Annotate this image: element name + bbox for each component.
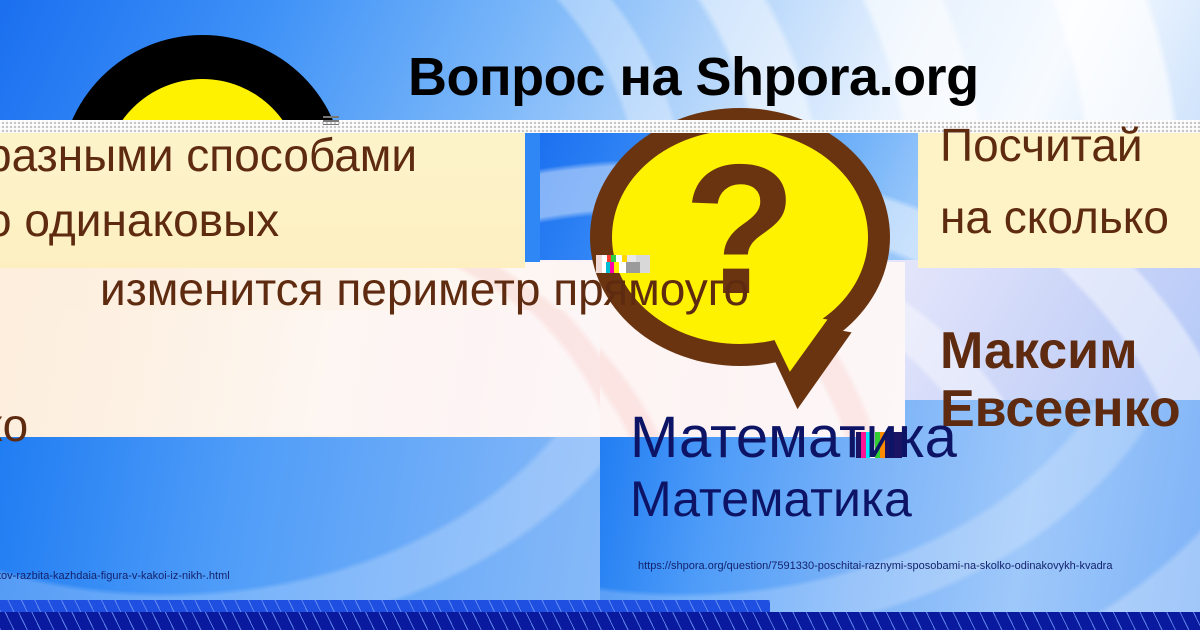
question-url-primary[interactable]: https://shpora.org/question/7591330-posc… xyxy=(638,560,1112,572)
bottom-accent-strip-light xyxy=(0,600,770,612)
author-first-name: Максим xyxy=(940,322,1181,380)
glitch-seam-marker xyxy=(323,116,339,125)
og-preview-card: ? Вопрос на Shpora.org разными способами… xyxy=(0,0,1200,630)
author-name: Максим Евсеенко xyxy=(940,322,1181,438)
author-last-name: Евсеенко xyxy=(940,380,1181,438)
question-text-line-1: разными способами xyxy=(0,128,417,182)
cream-panel-lower xyxy=(0,310,600,435)
question-text-line-4: ко xyxy=(0,398,28,452)
subject-label: Математика xyxy=(630,470,912,528)
question-url-secondary[interactable]: tov-razbita-kazhdaia-figura-v-kakoi-iz-n… xyxy=(0,570,230,582)
subject-label-ghost: Математика xyxy=(630,404,957,471)
bottom-accent-strip xyxy=(0,612,1200,630)
question-mark-glyph: ? xyxy=(590,108,890,366)
question-text-line-3: изменится периметр прямоуго xyxy=(100,262,749,316)
question-text-right-1: Посчитай xyxy=(940,118,1143,172)
question-text-line-2: о одинаковых xyxy=(0,193,279,247)
page-title: Вопрос на Shpora.org xyxy=(408,46,979,108)
question-text-right-2: на сколько xyxy=(940,190,1169,244)
